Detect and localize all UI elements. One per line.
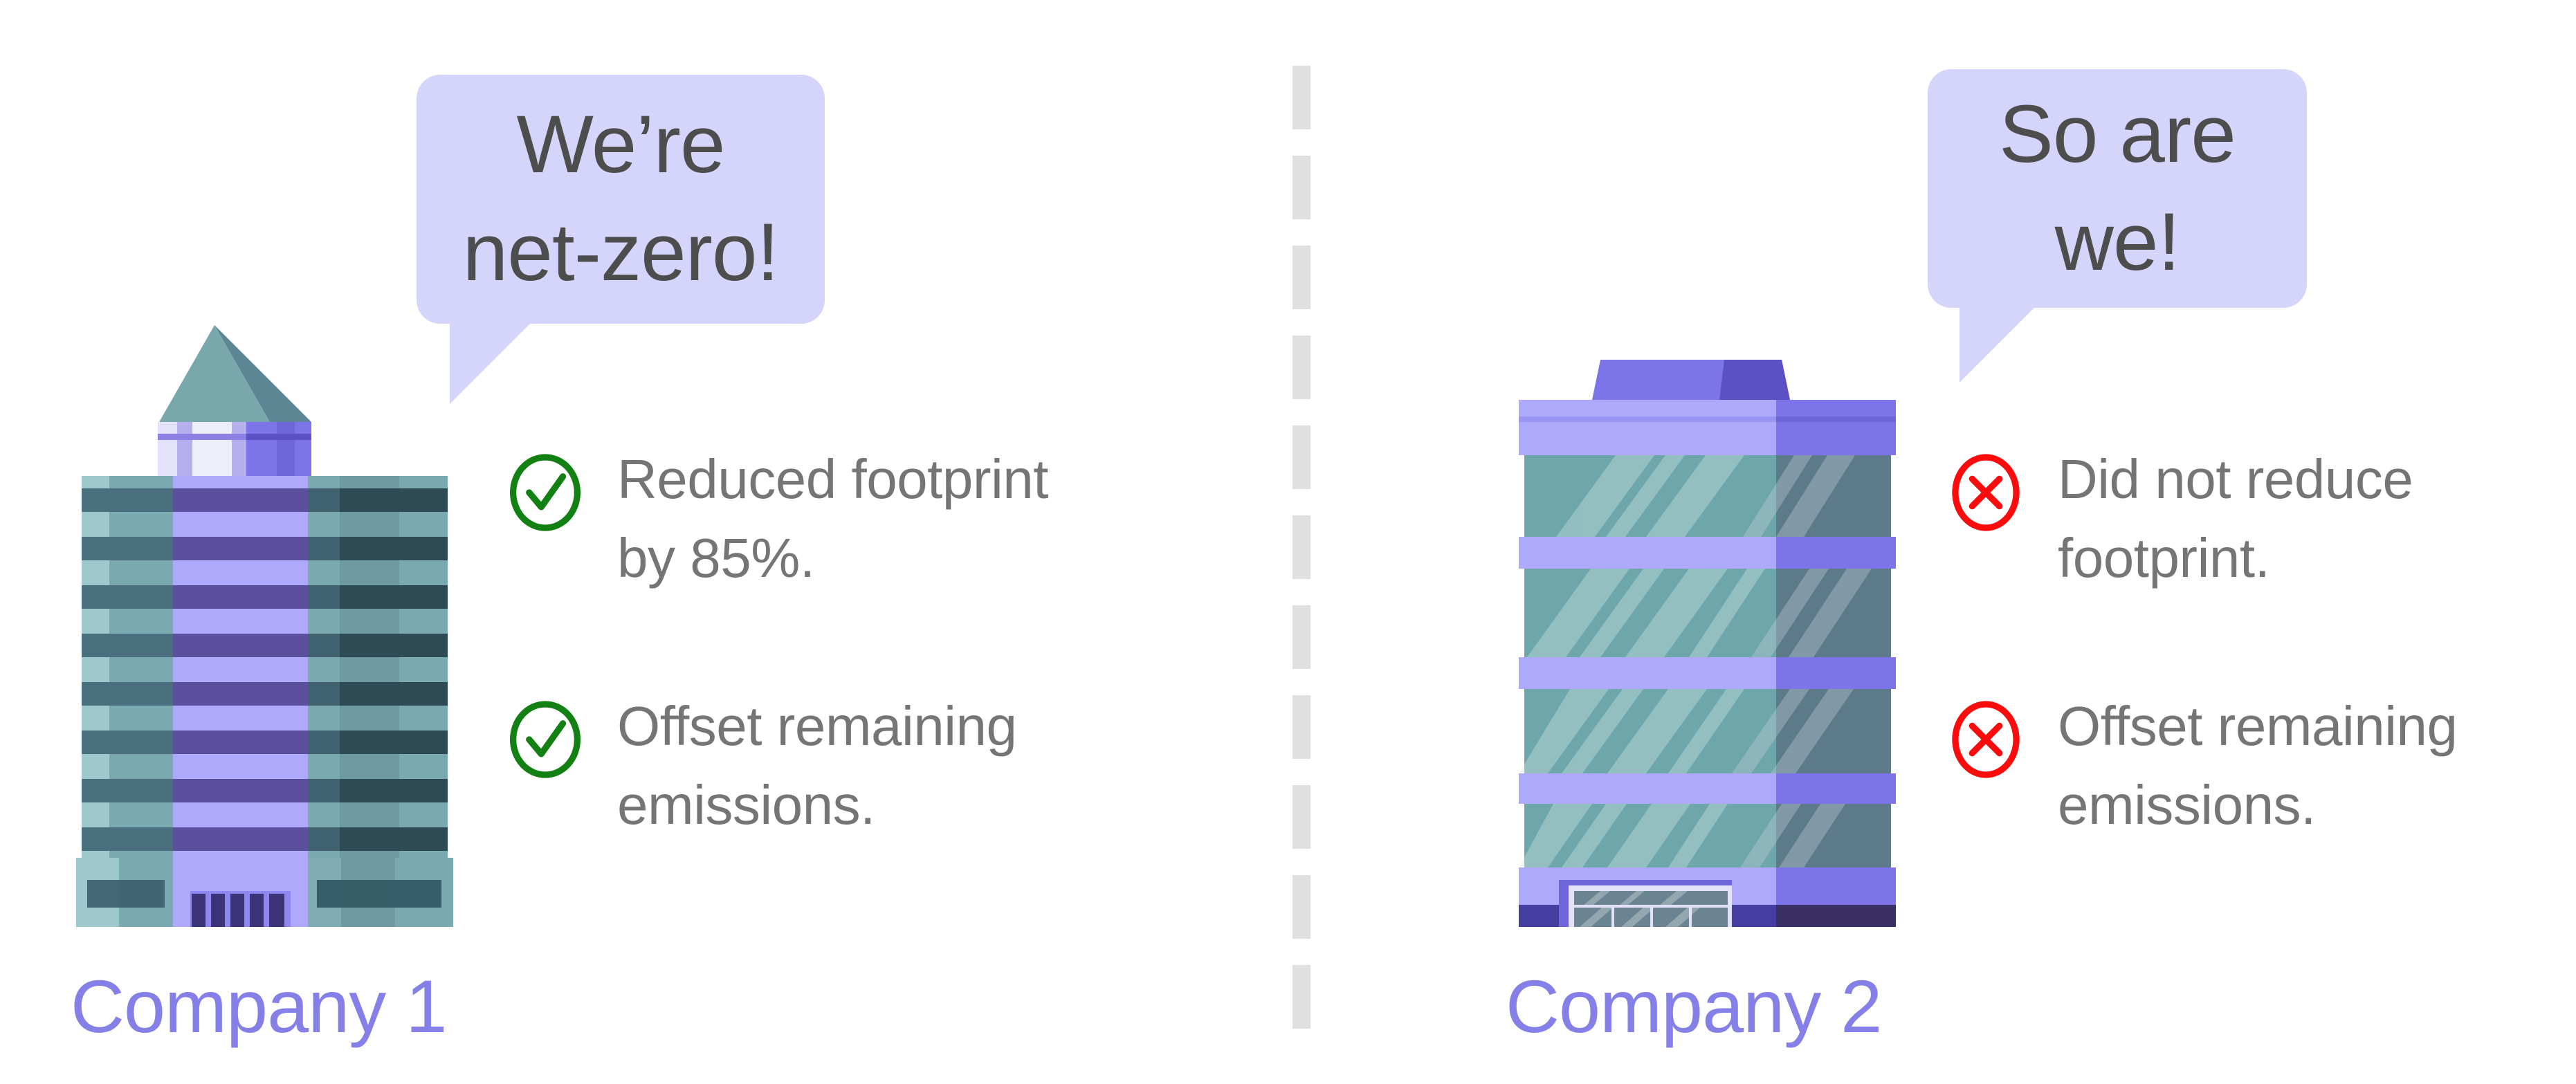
list-item-label: Offset remaining emissions. — [617, 687, 1066, 844]
speech-bubble-tail-icon — [450, 322, 531, 404]
company-2-building — [1519, 360, 1896, 927]
dashed-vertical-divider — [1292, 66, 1310, 1034]
company-2-bullet-list: Did not reduce footprint. Offset remaini… — [1946, 440, 2568, 934]
list-item-label: Reduced footprint by 85%. — [617, 440, 1066, 597]
divider-dash — [1292, 695, 1310, 759]
divider-dash — [1292, 515, 1310, 579]
list-item-label: Did not reduce footprint. — [2058, 440, 2568, 597]
speech-bubble-company-1: We’re net-zero! — [417, 75, 825, 324]
divider-dash — [1292, 156, 1310, 219]
company-1-caption: Company 1 — [71, 963, 446, 1049]
divider-dash — [1292, 965, 1310, 1029]
divider-dash — [1292, 66, 1310, 129]
company-2-caption: Company 2 — [1506, 963, 1881, 1049]
company-2-panel: So are we! — [1310, 0, 2576, 1084]
speech-bubble-company-2-text: So are we! — [1999, 81, 2236, 297]
speech-bubble-company-1-text: We’re net-zero! — [463, 91, 779, 307]
divider-dash — [1292, 425, 1310, 489]
list-item: Offset remaining emissions. — [1946, 687, 2568, 844]
divider-dash — [1292, 785, 1310, 849]
list-item-label: Offset remaining emissions. — [2058, 687, 2568, 844]
glass-office-block-icon — [1519, 360, 1896, 927]
cross-circle-icon — [1946, 452, 2026, 533]
divider-dash — [1292, 336, 1310, 399]
list-item: Offset remaining emissions. — [505, 687, 1066, 844]
cross-circle-icon — [1946, 699, 2026, 780]
list-item: Reduced footprint by 85%. — [505, 440, 1066, 597]
check-circle-icon — [505, 452, 585, 533]
check-circle-icon — [505, 699, 585, 780]
office-tower-pitched-roof-icon — [76, 325, 453, 927]
company-1-panel: We’re net-zero! — [0, 0, 1292, 1084]
divider-dash — [1292, 246, 1310, 309]
speech-bubble-tail-icon — [1960, 306, 2036, 383]
company-1-bullet-list: Reduced footprint by 85%. Offset remaini… — [505, 440, 1066, 934]
divider-dash — [1292, 605, 1310, 669]
list-item: Did not reduce footprint. — [1946, 440, 2568, 597]
company-1-building — [76, 325, 453, 927]
speech-bubble-company-2: So are we! — [1928, 69, 2307, 308]
divider-dash — [1292, 875, 1310, 939]
